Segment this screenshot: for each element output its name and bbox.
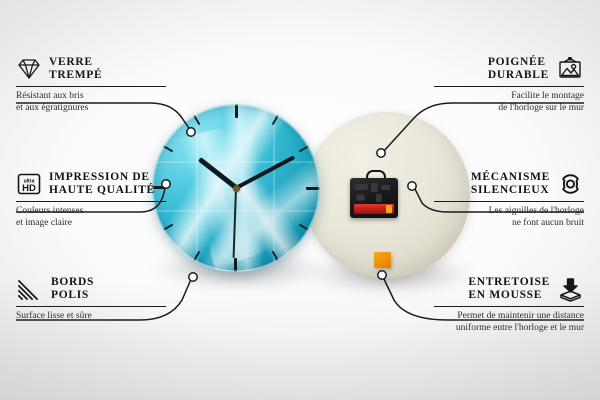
callout-title-line2: TREMPÉ [49,69,102,82]
callout-title-line2: DURABLE [488,69,549,82]
callout-entretoise-en-mousse: ENTRETOISE EN MOUSSE Permet de maintenir… [434,276,584,334]
callout-poignee-durable: POIGNÉE DURABLE Facilite le montage de l… [434,56,584,114]
callout-rule [434,306,584,307]
callout-desc-line1: Les aiguilles de l'horloge [434,206,584,218]
callout-title-line1: BORDS [51,276,94,289]
callout-bords-polis: BORDS POLIS Surface lisse et sûre [16,276,166,323]
callout-header: BORDS POLIS [16,276,166,302]
callout-rule [16,306,166,307]
product-infographic: VERRE TREMPÉ Résistant aux bris et aux é… [0,0,600,400]
callout-desc-line2: ne font aucun bruit [434,218,584,230]
callout-title-line1: ENTRETOISE [468,276,550,289]
picture-hanger-icon [556,57,584,81]
callout-verre-trempe: VERRE TREMPÉ Résistant aux bris et aux é… [16,56,166,114]
callout-impression-haute-qualite: ultra HD IMPRESSION DE HAUTE QUALITÉ Cou… [16,171,166,229]
foam-spacer-icon [557,277,584,302]
callout-title-line2: HAUTE QUALITÉ [49,184,155,197]
callout-header: MÉCANISME SILENCIEUX [434,171,584,197]
wall-clock-front[interactable] [152,104,320,272]
callout-desc-line2: et aux égratignures [16,103,166,115]
callout-desc-line1: Facilite le montage [434,91,584,103]
callout-rule [16,201,166,202]
polished-edge-icon [16,277,44,301]
callout-header: VERRE TREMPÉ [16,56,166,82]
mechanism-detail [381,185,390,190]
mechanism-detail [355,184,368,190]
callout-title-line1: VERRE [49,56,102,69]
callout-title-line2: SILENCIEUX [471,184,550,197]
callout-title-line2: POLIS [51,289,94,302]
callout-header: POIGNÉE DURABLE [434,56,584,82]
diamond-icon [16,57,42,81]
foam-spacer [374,252,391,268]
callout-desc-line1: Résistant aux bris [16,91,166,103]
ultra-hd-badge-icon: ultra HD [16,172,42,196]
callout-desc-line1: Surface lisse et sûre [16,311,166,323]
callout-title-line1: MÉCANISME [471,171,550,184]
callout-rule [16,86,166,87]
callout-desc-line1: Couleurs intenses [16,206,166,218]
battery [354,204,394,214]
mechanism-detail [356,194,365,201]
callout-title-line1: IMPRESSION DE [49,171,155,184]
callout-desc-line2: uniforme entre l'horloge et le mur [434,323,584,335]
callout-rule [434,201,584,202]
callout-header: ultra HD IMPRESSION DE HAUTE QUALITÉ [16,171,166,197]
callout-mecanisme-silencieux: MÉCANISME SILENCIEUX Les aiguilles de l'… [434,171,584,229]
callout-title-line1: POIGNÉE [488,56,549,69]
mechanism-detail [376,194,382,202]
glass-edge-highlight [152,104,320,272]
quartz-mechanism [350,178,398,218]
mechanism-detail [371,183,378,192]
callout-desc-line2: de l'horloge sur le mur [434,103,584,115]
callout-header: ENTRETOISE EN MOUSSE [434,276,584,302]
callout-title-line2: EN MOUSSE [468,289,550,302]
callout-desc-line1: Permet de maintenir une distance [434,311,584,323]
badge-large-label: HD [22,183,36,194]
gear-icon [557,172,584,197]
callout-rule [434,86,584,87]
callout-desc-line2: et image claire [16,218,166,230]
